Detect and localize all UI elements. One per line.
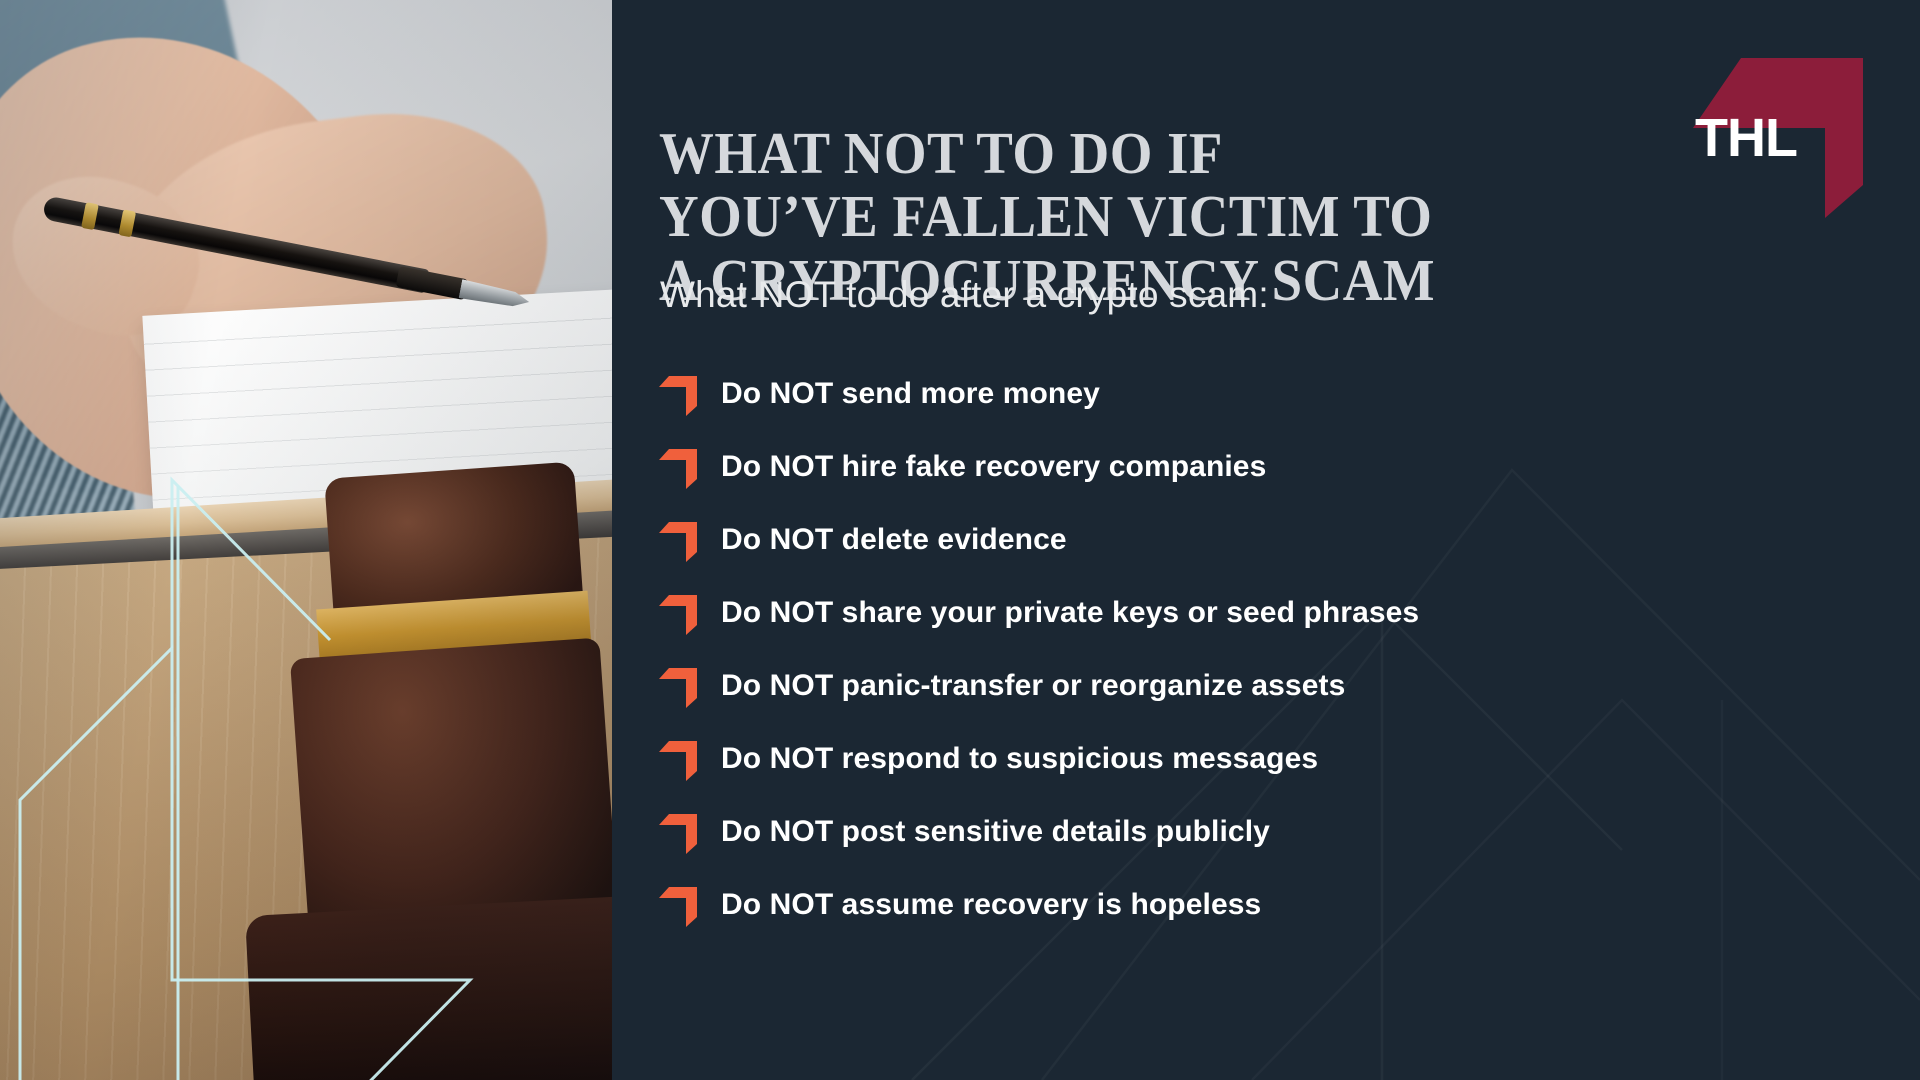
list-item: Do NOT assume recovery is hopeless [659,868,1889,941]
list-item-label: Do NOT post sensitive details publicly [721,815,1270,849]
corner-bracket-arrow-icon [659,445,721,489]
list-item-label: Do NOT respond to suspicious messages [721,742,1318,776]
page-title-line-2: YOU’VE FALLEN VICTIM TO [659,185,1477,249]
list-item: Do NOT send more money [659,357,1889,430]
list-item-label: Do NOT hire fake recovery companies [721,450,1266,484]
list-item: Do NOT post sensitive details publicly [659,795,1889,868]
list-item-label: Do NOT delete evidence [721,523,1067,557]
corner-bracket-arrow-icon [659,518,721,562]
page-title-line-1: WHAT NOT TO DO IF [659,122,1477,186]
list-item: Do NOT share your private keys or seed p… [659,576,1889,649]
list-item: Do NOT panic-transfer or reorganize asse… [659,649,1889,722]
corner-bracket-arrow-icon [659,810,721,854]
photo-vignette [0,0,612,1080]
list-item: Do NOT respond to suspicious messages [659,722,1889,795]
corner-bracket-arrow-icon [659,372,721,416]
corner-bracket-arrow-icon [659,883,721,927]
thl-logo[interactable]: THL [1693,33,1863,218]
list-item-label: Do NOT send more money [721,377,1100,411]
list-item: Do NOT delete evidence [659,503,1889,576]
list-item-label: Do NOT assume recovery is hopeless [721,888,1261,922]
list-item: Do NOT hire fake recovery companies [659,430,1889,503]
corner-bracket-arrow-icon [659,664,721,708]
dont-do-list: Do NOT send more money Do NOT hire fake … [659,357,1889,941]
corner-bracket-arrow-icon [659,591,721,635]
page-subtitle: What NOT to do after a crypto scam: [660,274,1269,316]
infographic-canvas: THL WHAT NOT TO DO IF YOU’VE FALLEN VICT… [0,0,1920,1080]
thl-logo-wordmark: THL [1695,111,1797,165]
list-item-label: Do NOT share your private keys or seed p… [721,596,1419,630]
list-item-label: Do NOT panic-transfer or reorganize asse… [721,669,1345,703]
corner-bracket-arrow-icon [659,737,721,781]
content-panel: THL WHAT NOT TO DO IF YOU’VE FALLEN VICT… [612,0,1920,1080]
hero-photo [0,0,612,1080]
